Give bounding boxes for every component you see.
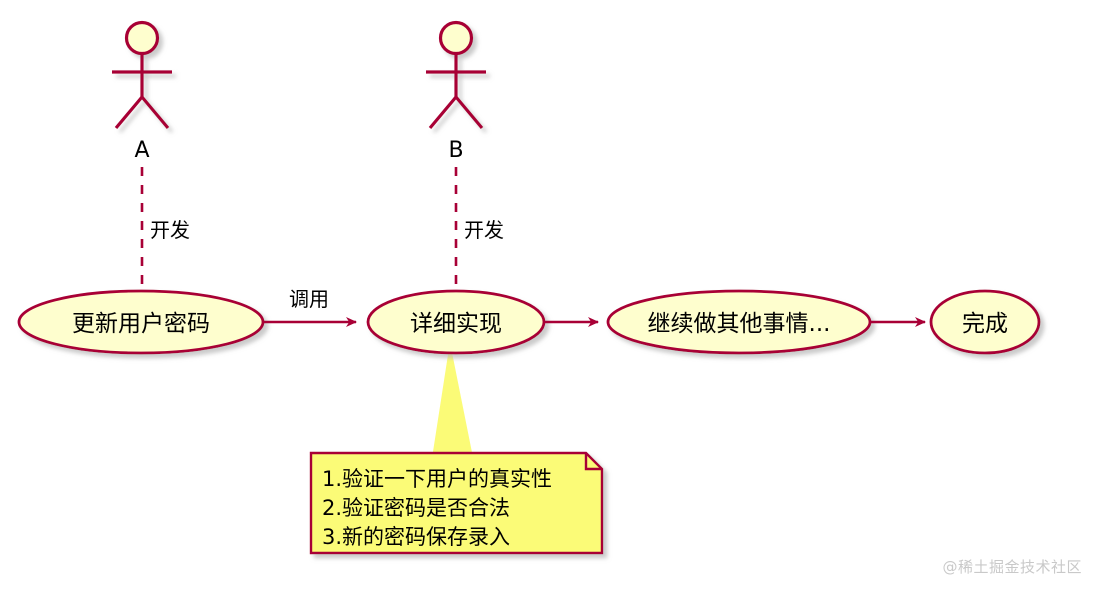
watermark: @稀土掘金技术社区 xyxy=(942,556,1082,577)
actor-leg-right-icon xyxy=(142,97,168,128)
usecase-detail-impl[interactable]: 详细实现 xyxy=(368,291,544,353)
usecase-continue-other[interactable]: 继续做其他事情... xyxy=(608,291,870,353)
actor-head-icon xyxy=(127,23,158,54)
actor-a[interactable] xyxy=(112,23,172,129)
usecase-label: 继续做其他事情... xyxy=(648,311,831,337)
usecase-update-password[interactable]: 更新用户密码 xyxy=(19,291,263,353)
actor-b-label: B xyxy=(448,138,463,163)
actor-leg-right-icon xyxy=(456,97,482,128)
usecase-label: 更新用户密码 xyxy=(72,311,210,337)
association-label-a: 开发 xyxy=(150,218,190,242)
usecase-label: 详细实现 xyxy=(410,311,502,337)
usecase-finish[interactable]: 完成 xyxy=(931,291,1039,353)
actor-head-icon xyxy=(441,23,472,54)
uml-use-case-diagram: A B 开发 开发 1.验证一下用户的真实性 2.验证密码是否合法 3.新的密码… xyxy=(0,0,1098,591)
actor-leg-left-icon xyxy=(430,97,456,128)
usecase-label: 完成 xyxy=(962,311,1008,337)
note-line-1: 1.验证一下用户的真实性 xyxy=(322,467,552,491)
actor-a-label: A xyxy=(134,138,149,163)
actor-leg-left-icon xyxy=(116,97,142,128)
diagram-canvas: A B 开发 开发 1.验证一下用户的真实性 2.验证密码是否合法 3.新的密码… xyxy=(0,0,1098,591)
note-line-2: 2.验证密码是否合法 xyxy=(322,496,510,520)
association-label-b: 开发 xyxy=(464,218,504,242)
note-connector xyxy=(433,345,472,455)
edge-call-label: 调用 xyxy=(289,287,329,311)
actor-b[interactable] xyxy=(426,23,486,129)
note-line-3: 3.新的密码保存录入 xyxy=(322,525,510,549)
